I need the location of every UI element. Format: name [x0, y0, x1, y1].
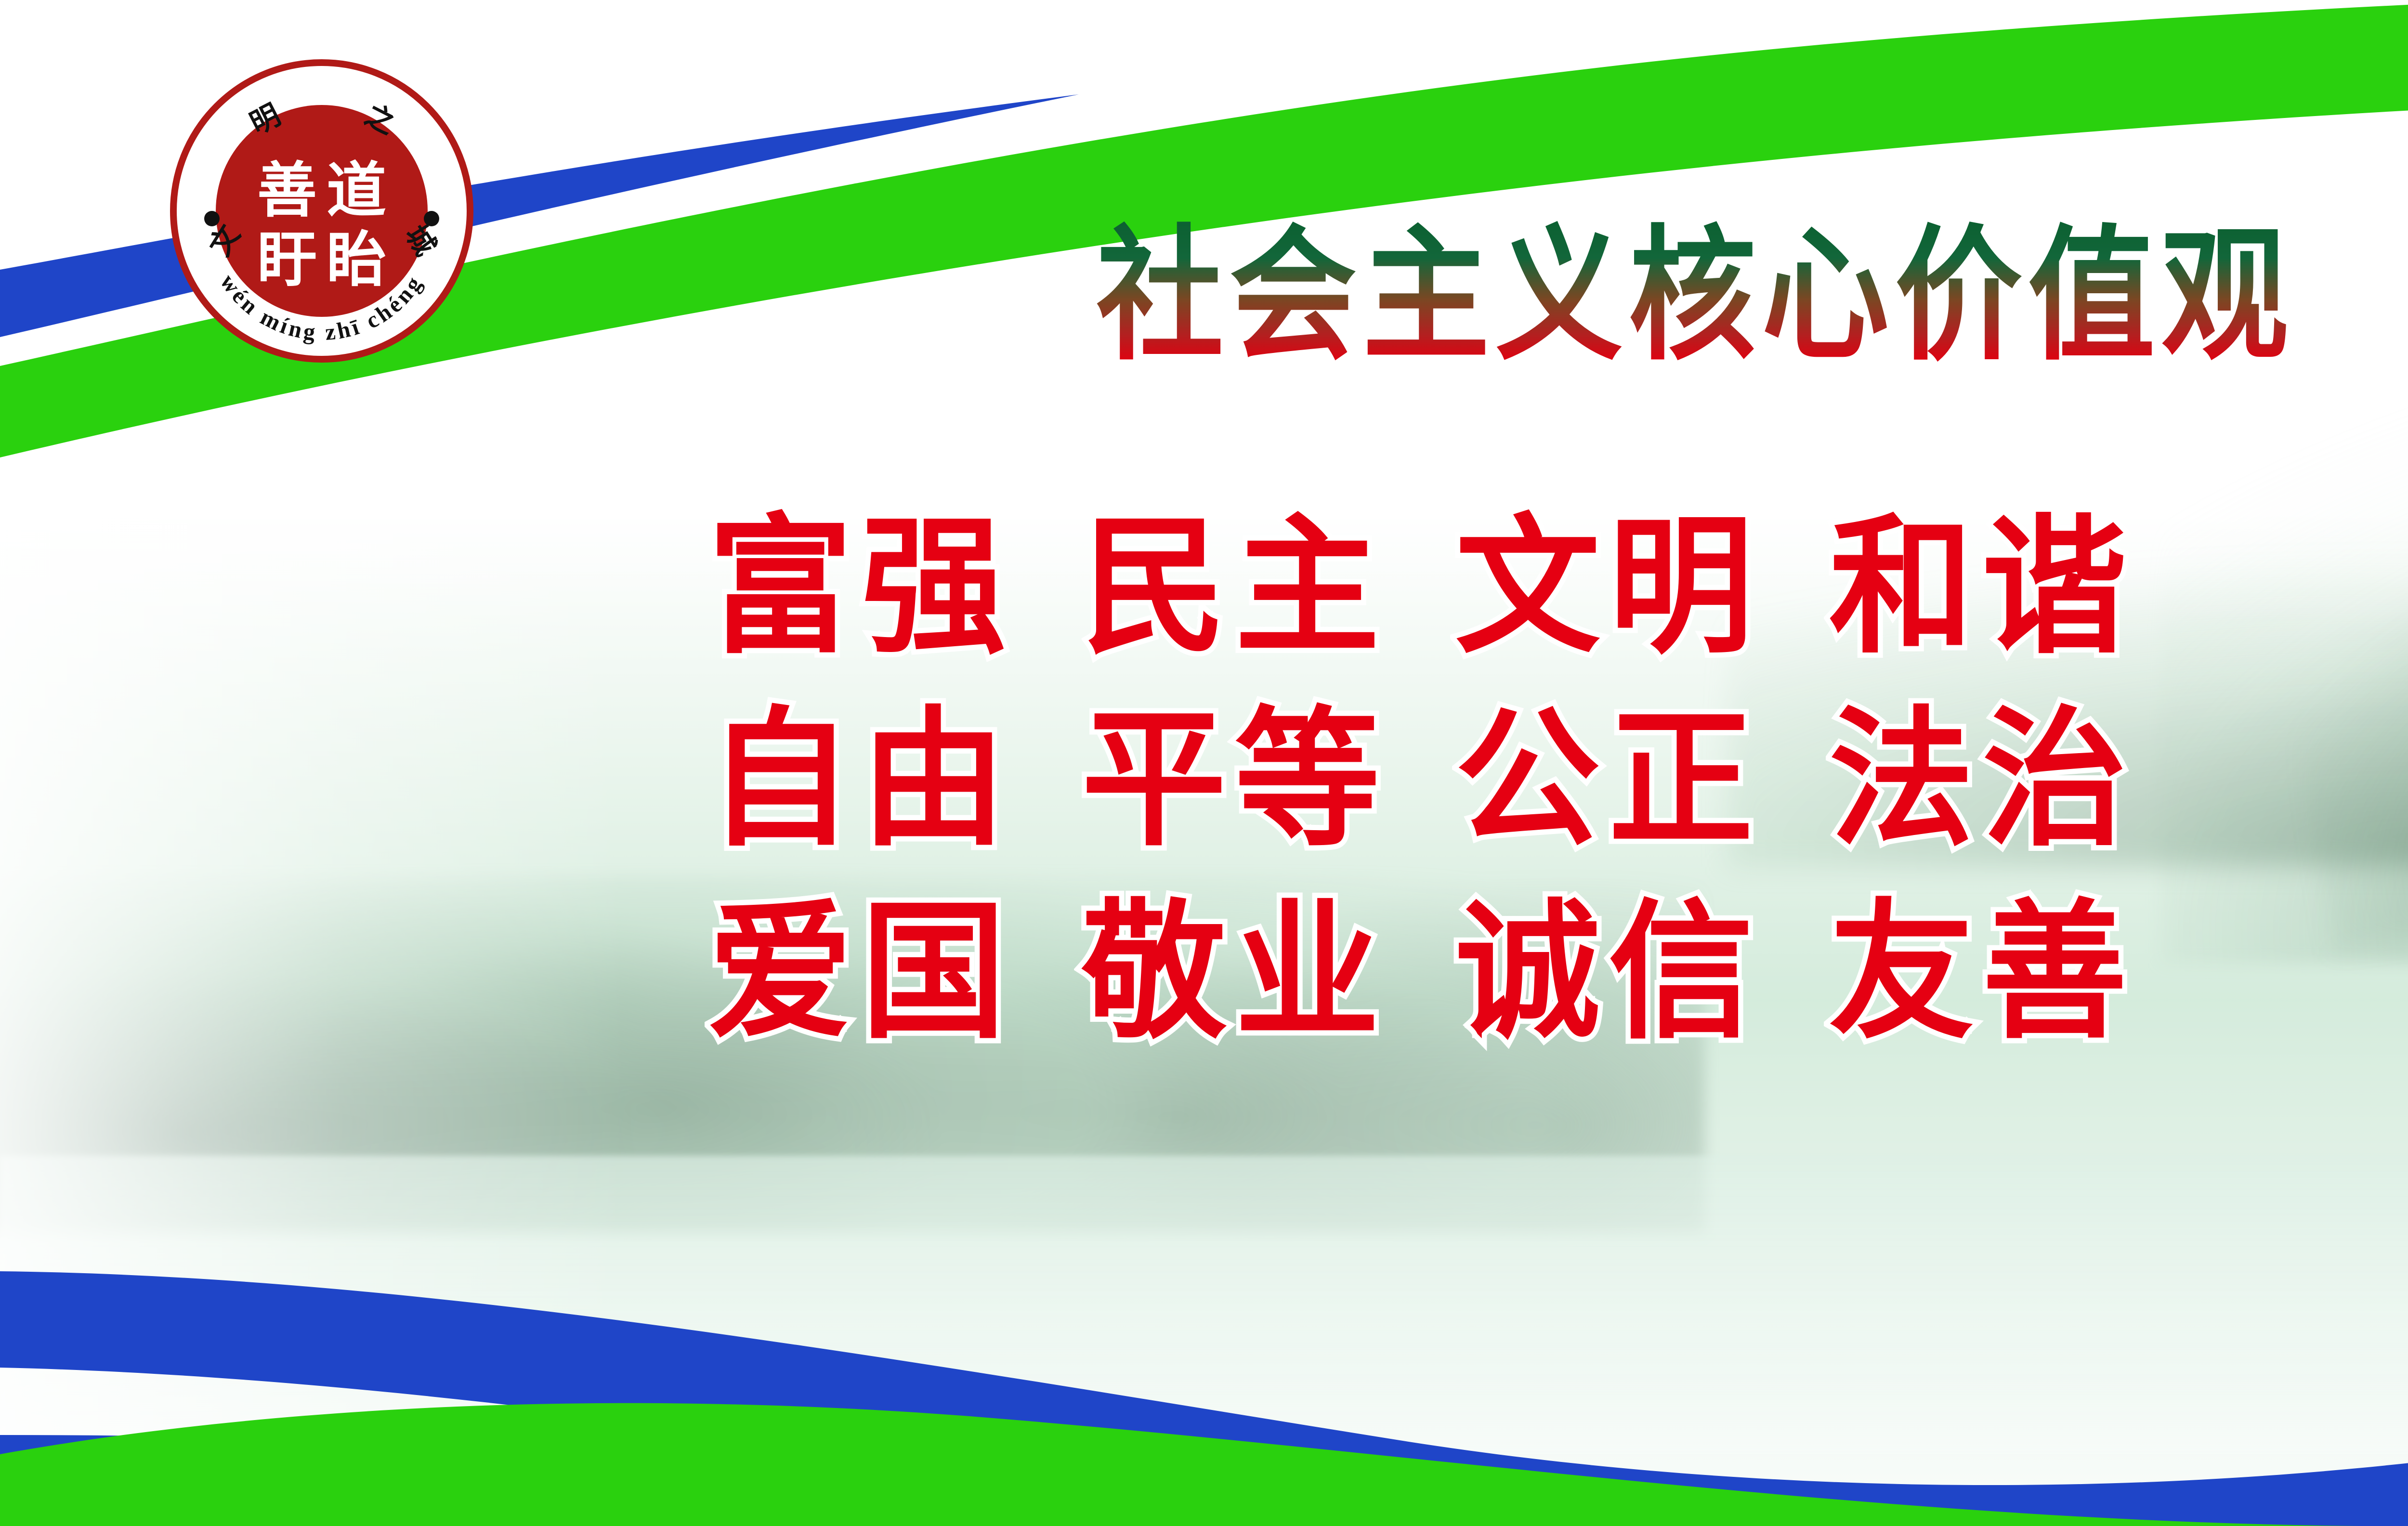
value-word: 敬业: [1082, 876, 1388, 1069]
value-word: 民主: [1082, 491, 1388, 684]
svg-text:道: 道: [327, 156, 386, 225]
value-word: 自由: [708, 684, 1014, 876]
svg-text:盱: 盱: [257, 225, 317, 295]
values-line-2: 自由平等公正法治: [703, 684, 2408, 876]
value-word: 文明: [1455, 491, 1762, 684]
values-line-1: 富强民主文明和谐: [703, 491, 2408, 684]
page-title: 社会主义核心价值观: [1097, 217, 2294, 376]
core-values-list: 富强民主文明和谐 自由平等公正法治 爱国敬业诚信友善: [703, 491, 2408, 1069]
headline-block: 社会主义核心价值观: [828, 217, 2408, 380]
svg-text:善: 善: [257, 156, 317, 225]
values-line-3: 爱国敬业诚信友善: [703, 876, 2408, 1069]
civic-values-banner: 文 明 之 城 善 道 盱 眙 wén míng zhī chéng 社会主义核…: [0, 0, 2408, 1526]
value-word: 和谐: [1829, 491, 2135, 684]
value-word: 爱国: [708, 876, 1014, 1069]
value-word: 诚信: [1455, 876, 1762, 1069]
value-word: 友善: [1829, 876, 2135, 1069]
svg-text:眙: 眙: [327, 225, 386, 295]
value-word: 公正: [1455, 684, 1762, 876]
value-word: 法治: [1829, 684, 2135, 876]
value-word: 富强: [708, 491, 1014, 684]
value-word: 平等: [1082, 684, 1388, 876]
city-seal-logo[interactable]: 文 明 之 城 善 道 盱 眙 wén míng zhī chéng: [168, 57, 476, 365]
